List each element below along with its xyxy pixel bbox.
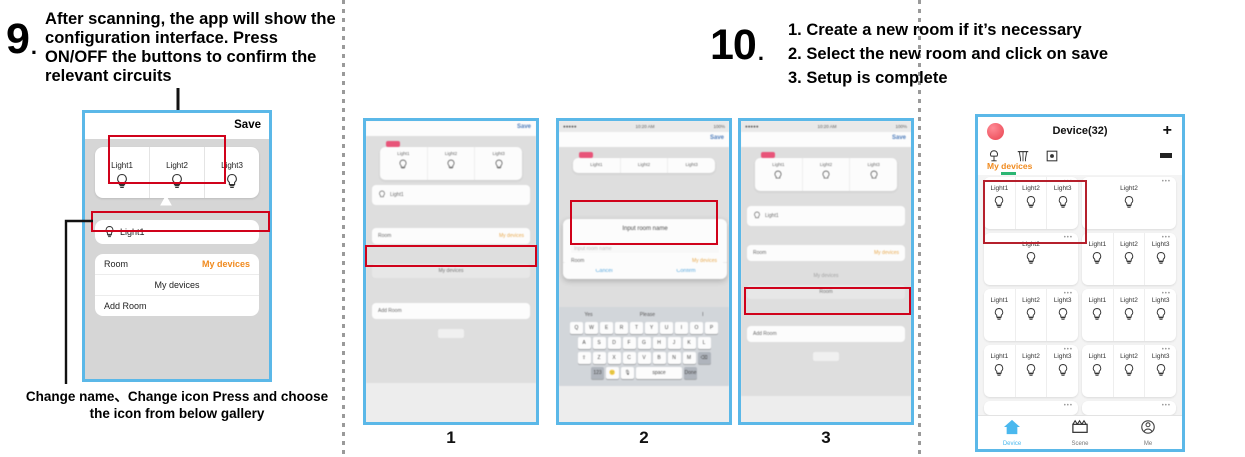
- space-key[interactable]: space: [636, 367, 682, 379]
- room-row[interactable]: Room My devices: [95, 254, 259, 275]
- keyboard-row-4: 123 🙂 🎙 space Done: [561, 367, 727, 379]
- switch-cell[interactable]: Light2: [150, 147, 205, 198]
- tab-me[interactable]: Me: [1114, 419, 1182, 447]
- device-name-card: Light1: [95, 220, 259, 244]
- room-value: My devices: [874, 250, 899, 256]
- save-button[interactable]: Save: [710, 135, 724, 141]
- switch-cell[interactable]: Light1: [95, 147, 150, 198]
- step-9-caption: Change name、Change icon Press and choose…: [18, 388, 336, 422]
- keyboard-suggestions: Yes Please I: [561, 310, 727, 322]
- key[interactable]: N: [668, 352, 681, 364]
- device-card[interactable]: ••• Light1 Light2 Light3: [1082, 345, 1176, 397]
- bulb-icon: [1025, 363, 1037, 378]
- switch-cell[interactable]: Light3: [850, 158, 897, 191]
- bulb-icon: [1025, 307, 1037, 322]
- screenshot-number-2: 2: [556, 428, 732, 448]
- mini2-topbar: Save: [559, 132, 729, 147]
- device-card[interactable]: ••• Light1 Light2 Light3: [1082, 289, 1176, 341]
- return-key[interactable]: Done: [684, 367, 697, 379]
- bulb-icon: [773, 170, 783, 182]
- bulb-icon: [1057, 363, 1069, 378]
- switch-label: Light2: [1114, 353, 1145, 360]
- bulb-icon: [993, 307, 1005, 322]
- mockup-topbar: Save: [85, 113, 269, 139]
- suggestion[interactable]: Please: [640, 312, 655, 318]
- shift-key[interactable]: ⇧: [578, 352, 591, 364]
- my-devices-row[interactable]: My devices: [95, 275, 259, 296]
- device-name-row[interactable]: Light1: [372, 185, 530, 205]
- switch-label: Light3: [221, 161, 243, 170]
- device-card[interactable]: ••• Light2: [1082, 177, 1176, 229]
- switch-label: Light1: [984, 297, 1015, 304]
- status-left: ●●●●●: [745, 124, 759, 129]
- switch-label: Light3: [668, 162, 715, 167]
- room-card: Room My devices My devices Add Room: [95, 254, 259, 316]
- highlight-room-row-1: [365, 245, 537, 267]
- tab-label: Scene: [1046, 441, 1114, 447]
- key[interactable]: H: [653, 337, 666, 349]
- device-card[interactable]: ••• Light1 Light2 Light3: [1082, 233, 1176, 285]
- tab-device[interactable]: Device: [978, 419, 1046, 447]
- keyboard-row-1: Q W E R T Y U I O P: [561, 322, 727, 334]
- key[interactable]: O: [690, 322, 703, 334]
- add-room-label: Add Room: [753, 331, 777, 337]
- bulb-icon: [993, 363, 1005, 378]
- clapperboard-icon: [1071, 419, 1089, 435]
- person-icon: [1139, 419, 1157, 435]
- switch-label: Light2: [428, 151, 475, 156]
- device-switch[interactable]: Light3: [1145, 233, 1176, 285]
- switch-cell[interactable]: Light2: [803, 158, 851, 191]
- key[interactable]: B: [653, 352, 666, 364]
- switch-label: Light3: [475, 151, 522, 156]
- instruction-sheet: 9 . After scanning, the app will show th…: [0, 0, 1245, 457]
- switch-cell[interactable]: Light3: [668, 158, 715, 173]
- add-room-label: Add Room: [378, 308, 402, 314]
- keyboard-row-2: A S D F G H J K L: [561, 337, 727, 349]
- highlight-room-button-3: [744, 287, 911, 315]
- key[interactable]: M: [683, 352, 696, 364]
- switch-label: Light2: [1016, 297, 1047, 304]
- step-10-screenshot-2: ●●●●● 10:20 AM 100% Save Light1 Light2 L…: [556, 118, 732, 425]
- key[interactable]: E: [600, 322, 613, 334]
- switch-label: Light2: [166, 161, 188, 170]
- switch-label: Light2: [621, 162, 668, 167]
- more-icon[interactable]: •••: [1162, 180, 1171, 184]
- step-10-screenshot-3: ●●●●● 10:20 AM 100% Save Light1 Light2 L…: [738, 118, 914, 425]
- bulb-icon: [494, 159, 504, 171]
- scroll-handle[interactable]: [747, 348, 905, 366]
- screenshot-number-1: 1: [363, 428, 539, 448]
- key[interactable]: I: [675, 322, 688, 334]
- badge-icon: [579, 152, 593, 158]
- device-name-value: Light1: [120, 227, 145, 237]
- device-card-partial[interactable]: •••: [1082, 401, 1176, 415]
- bulb-icon: [1155, 363, 1167, 378]
- device-switch[interactable]: Light3: [1047, 345, 1078, 397]
- config-screen-mockup: Save Light1 Light2: [82, 110, 272, 382]
- switch-label: Light1: [1082, 353, 1113, 360]
- more-icon[interactable]: •••: [1064, 404, 1073, 408]
- room-row[interactable]: Room My devices: [565, 253, 723, 269]
- device-switch[interactable]: Light3: [1047, 289, 1078, 341]
- page-title: Device(32): [978, 125, 1182, 137]
- onscreen-keyboard: Yes Please I Q W E R T Y U I O P A: [559, 307, 729, 386]
- key[interactable]: P: [705, 322, 718, 334]
- bulb-icon: [753, 211, 761, 221]
- device-list-mockup: Device(32) + M: [975, 114, 1185, 452]
- device-name-group: Light1: [104, 225, 145, 239]
- highlight-first-device-card: [983, 180, 1087, 244]
- device-switch[interactable]: Light2: [1016, 289, 1048, 341]
- status-bar: ●●●●● 10:20 AM 100%: [741, 121, 911, 132]
- key[interactable]: A: [578, 337, 591, 349]
- room-value: My devices: [692, 258, 717, 264]
- bulb-icon: [446, 159, 456, 171]
- screenshot-number-3: 3: [738, 428, 914, 448]
- add-room-row[interactable]: Add Room: [747, 326, 905, 342]
- bulb-icon: [1091, 307, 1103, 322]
- my-devices-label: My devices: [154, 280, 199, 290]
- key[interactable]: W: [585, 322, 598, 334]
- more-icon[interactable]: •••: [1162, 404, 1171, 408]
- status-center: 10:20 AM: [636, 124, 655, 129]
- room-label: Room: [753, 250, 766, 256]
- key[interactable]: D: [608, 337, 621, 349]
- plus-icon[interactable]: +: [1163, 124, 1172, 138]
- bottom-tab-bar: Device Scene Me: [978, 415, 1182, 449]
- switch-cell[interactable]: Light1: [380, 147, 428, 180]
- switch-cell[interactable]: Light3: [475, 147, 522, 180]
- switch-label: Light3: [1047, 297, 1078, 304]
- badge-icon: [761, 152, 775, 158]
- minus-icon[interactable]: [1160, 153, 1172, 158]
- add-room-label: Add Room: [104, 301, 147, 311]
- key[interactable]: V: [638, 352, 651, 364]
- switch-cell[interactable]: Light2: [621, 158, 669, 173]
- tab-label: Me: [1114, 441, 1182, 447]
- tab-my-devices[interactable]: My devices: [987, 161, 1173, 171]
- switch-label: Light2: [803, 162, 850, 167]
- tab-label: Device: [978, 441, 1046, 447]
- device-name-value: Light1: [390, 192, 404, 198]
- step-10-dot: .: [758, 40, 764, 66]
- up-arrow-icon: [160, 196, 172, 208]
- switch-label: Light1: [111, 161, 133, 170]
- switch-card: Light1 Light2 Light3: [755, 158, 897, 191]
- tab-scene[interactable]: Scene: [1046, 419, 1114, 447]
- bulb-icon: [378, 190, 386, 200]
- mini1-topbar: Save: [366, 121, 536, 136]
- bulb-icon: [1123, 195, 1135, 210]
- add-room-row[interactable]: Add Room: [95, 296, 259, 316]
- save-button[interactable]: Save: [517, 124, 531, 130]
- save-button[interactable]: Save: [892, 135, 906, 141]
- scroll-handle[interactable]: [372, 325, 530, 343]
- device-switch[interactable]: Light1: [984, 345, 1016, 397]
- more-icon[interactable]: •••: [1162, 292, 1171, 296]
- switch-label: Light3: [1145, 297, 1176, 304]
- status-left: ●●●●●: [563, 124, 577, 129]
- room-label: Room: [378, 233, 391, 239]
- switch-cell[interactable]: Light2: [428, 147, 476, 180]
- key[interactable]: J: [668, 337, 681, 349]
- key[interactable]: S: [593, 337, 606, 349]
- bulb-icon: [225, 173, 239, 190]
- highlight-dialog-2: [570, 200, 718, 245]
- bulb-icon: [398, 159, 408, 171]
- key[interactable]: F: [623, 337, 636, 349]
- bulb-icon: [1155, 251, 1167, 266]
- switch-cell[interactable]: Light1: [573, 158, 621, 173]
- device-card[interactable]: ••• Light1 Light2 Light3: [984, 345, 1078, 397]
- device-name-group: Light1: [378, 190, 404, 200]
- my-devices-label: My devices: [747, 273, 905, 279]
- device-switch[interactable]: Light3: [1145, 289, 1176, 341]
- more-icon[interactable]: •••: [1162, 236, 1171, 240]
- device-switch[interactable]: Light2: [1114, 233, 1146, 285]
- device-switch[interactable]: Light2: [1114, 289, 1146, 341]
- room-value: My devices: [499, 233, 524, 239]
- device-name-value: Light1: [765, 213, 779, 219]
- badge-icon: [386, 141, 400, 147]
- switch-label: Light2: [1114, 241, 1145, 248]
- key[interactable]: Y: [645, 322, 658, 334]
- key[interactable]: U: [660, 322, 673, 334]
- bulb-icon: [1091, 251, 1103, 266]
- switch-cell[interactable]: Light3: [205, 147, 259, 198]
- app-header: Device(32) + M: [978, 117, 1182, 175]
- mini3-body: Light1 Light2 Light3 Light1 Ro: [741, 147, 911, 396]
- switch-label: Light1: [1082, 297, 1113, 304]
- device-switch[interactable]: Light2: [1016, 345, 1048, 397]
- keyboard-row-3: ⇧ Z X C V B N M ⌫: [561, 352, 727, 364]
- device-switch[interactable]: Light1: [984, 289, 1016, 341]
- bulb-icon: [1123, 307, 1135, 322]
- suggestion[interactable]: I: [702, 312, 703, 318]
- step-9-number: 9: [6, 18, 29, 61]
- status-right: 100%: [713, 124, 725, 129]
- switch-label: Light3: [1145, 353, 1176, 360]
- key[interactable]: C: [623, 352, 636, 364]
- status-bar: ●●●●● 10:20 AM 100%: [559, 121, 729, 132]
- numeric-key[interactable]: 123: [591, 367, 604, 379]
- key[interactable]: R: [615, 322, 628, 334]
- mic-key[interactable]: 🎙: [621, 367, 634, 379]
- device-switch[interactable]: Light2: [1114, 345, 1146, 397]
- backspace-key[interactable]: ⌫: [698, 352, 711, 364]
- switch-label: Light3: [850, 162, 897, 167]
- bulb-icon: [1057, 307, 1069, 322]
- switch-card: Light1 Light2 Light3: [380, 147, 522, 180]
- key[interactable]: X: [608, 352, 621, 364]
- panel-icon[interactable]: [1045, 149, 1059, 163]
- mini3-topbar: Save: [741, 132, 911, 147]
- step-9-dot: .: [31, 34, 37, 60]
- device-name-row[interactable]: Light1: [747, 206, 905, 226]
- step-9-panel: 9 . After scanning, the app will show th…: [0, 0, 342, 457]
- room-row[interactable]: Room My devices: [372, 228, 530, 244]
- bulb-icon: [104, 225, 115, 239]
- switch-label: Light3: [1047, 353, 1078, 360]
- key[interactable]: Z: [593, 352, 606, 364]
- key[interactable]: L: [698, 337, 711, 349]
- switch-label: Light1: [380, 151, 427, 156]
- switch-card: Light1 Light2 Light3: [573, 158, 715, 173]
- status-center: 10:20 AM: [818, 124, 837, 129]
- add-room-row[interactable]: Add Room: [372, 303, 530, 319]
- step-9-heading: 9 . After scanning, the app will show th…: [6, 10, 340, 86]
- bulb-icon: [1155, 307, 1167, 322]
- more-icon[interactable]: •••: [1064, 292, 1073, 296]
- switch-label: Light2: [1016, 353, 1047, 360]
- switch-label: Light2: [1114, 297, 1145, 304]
- switch-label: Light1: [984, 353, 1015, 360]
- device-name-group: Light1: [753, 211, 779, 221]
- switch-label: Light1: [573, 162, 620, 167]
- bulb-icon: [1123, 251, 1135, 266]
- bulb-icon: [170, 173, 184, 190]
- room-value: My devices: [202, 259, 250, 269]
- bulb-icon: [115, 173, 129, 190]
- more-icon[interactable]: •••: [1064, 348, 1073, 352]
- device-switch[interactable]: Light1: [1082, 289, 1114, 341]
- suggestion[interactable]: Yes: [585, 312, 593, 318]
- device-switch[interactable]: Light1: [1082, 345, 1114, 397]
- step-10-screenshot-1: Save Light1 Light2 Light3 Light1: [363, 118, 539, 425]
- status-right: 100%: [895, 124, 907, 129]
- switch-label: Light3: [1145, 241, 1176, 248]
- step-9-text: After scanning, the app will show the co…: [45, 10, 340, 86]
- bulb-icon: [1091, 363, 1103, 378]
- room-label: Room: [104, 259, 128, 269]
- bulb-icon: [1025, 251, 1037, 266]
- callout-connector: [63, 218, 93, 386]
- more-icon[interactable]: •••: [1162, 348, 1171, 352]
- save-button[interactable]: Save: [234, 119, 261, 131]
- key[interactable]: Q: [570, 322, 583, 334]
- key[interactable]: K: [683, 337, 696, 349]
- device-name-row[interactable]: Light1: [95, 220, 259, 244]
- room-row[interactable]: Room My devices: [747, 245, 905, 261]
- bulb-icon: [821, 170, 831, 182]
- switch-label: Light1: [755, 162, 802, 167]
- device-card-partial[interactable]: •••: [984, 401, 1078, 415]
- switch-label: Light2: [1082, 185, 1176, 192]
- mini2-content: ●●●●● 10:20 AM 100% Save Light1 Light2 L…: [559, 121, 729, 386]
- device-card[interactable]: ••• Light1 Light2 Light3: [984, 289, 1078, 341]
- key[interactable]: G: [638, 337, 651, 349]
- mockup-body: Light1 Light2: [85, 139, 269, 316]
- device-switch[interactable]: Light3: [1145, 345, 1176, 397]
- home-icon: [1003, 419, 1021, 435]
- switch-cell[interactable]: Light1: [755, 158, 803, 191]
- bulb-icon: [869, 170, 879, 182]
- key[interactable]: T: [630, 322, 643, 334]
- step-10-number: 10: [710, 24, 756, 67]
- switch-card: Light1 Light2: [95, 147, 259, 198]
- room-label: Room: [571, 258, 584, 264]
- active-tab-indicator: [1001, 172, 1016, 175]
- emoji-key[interactable]: 🙂: [606, 367, 619, 379]
- mini3-content: ●●●●● 10:20 AM 100% Save Light1 Light2 L…: [741, 121, 911, 396]
- bulb-icon: [1123, 363, 1135, 378]
